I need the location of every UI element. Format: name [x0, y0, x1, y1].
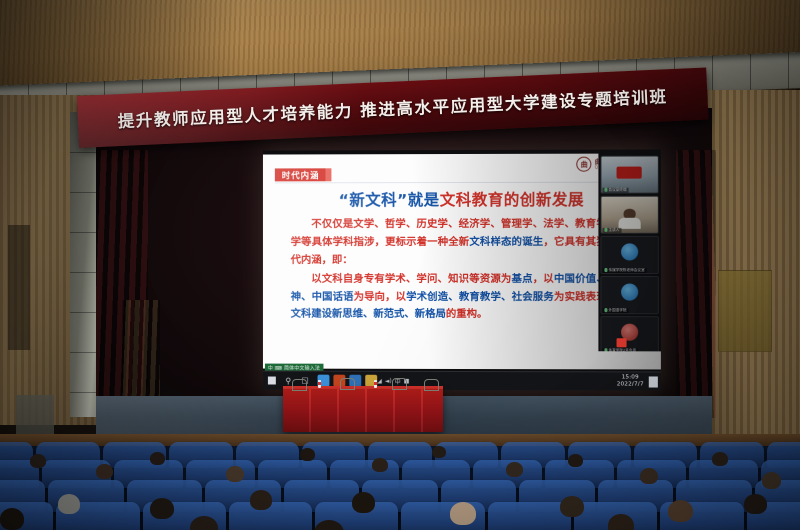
text-run: 学术创造、教育教学、社会服务: [406, 291, 554, 303]
clock-time: 15:09: [622, 374, 639, 381]
participant-name-label: 体育学院2号会场: [608, 348, 636, 352]
conference-participant-rail[interactable]: 会议室终端主讲人传媒学院陈老师会议室外国语学院体育学院2号会场文学分会场: [598, 153, 660, 351]
audience-member: [762, 472, 781, 489]
text-run: 。: [477, 308, 487, 320]
audience-member: [0, 508, 24, 530]
audience-member: [300, 448, 315, 461]
headline-part-3: 文科教育的创新发展: [440, 191, 584, 209]
audience-member: [668, 500, 693, 522]
text-run: 文科样态的诞生: [469, 236, 543, 248]
volume-icon[interactable]: ◄): [385, 377, 392, 384]
audience-area: [0, 446, 800, 530]
panel-seam: [712, 56, 713, 92]
participant-avatar: [621, 284, 638, 301]
clock-date: 2022/7/7: [617, 381, 644, 388]
text-run: 为导向，以: [354, 291, 407, 303]
audience-member: [372, 458, 388, 472]
headline-part-2: 就是: [408, 191, 440, 209]
text-run: 以文科自身专有学术、学问、知识等资源为: [311, 273, 511, 285]
slide-divider: [275, 182, 649, 184]
audience-member: [712, 452, 728, 466]
participant-name: 传媒学院陈老师会议室: [602, 268, 646, 273]
stage-curtain-right: [676, 150, 716, 418]
text-run: 重构: [456, 308, 477, 320]
audience-member: [250, 490, 272, 510]
participant-name: 主讲人: [602, 227, 621, 232]
panel-seam: [750, 54, 751, 90]
slide-section-tag: 时代内涵: [275, 168, 327, 181]
audience-member: [226, 466, 244, 482]
text-run: 基点: [512, 273, 533, 285]
audience-member: [744, 494, 767, 514]
audience-member: [640, 468, 658, 484]
slide-paragraph-p1: 不仅仅是文学、哲学、历史学、经济学、管理学、法学、教育学、艺术学等具体学科指涉，…: [291, 216, 639, 270]
stage-chair-2: [340, 378, 355, 390]
participant-video: [601, 317, 657, 351]
panel-seam: [788, 53, 789, 89]
audience-member: [560, 496, 584, 517]
side-door: [718, 270, 772, 352]
windows-start-icon[interactable]: [263, 372, 280, 390]
participant-tile[interactable]: 主讲人: [600, 196, 658, 234]
audience-member: [352, 492, 375, 513]
participant-tile[interactable]: 外国语学院: [600, 276, 658, 314]
participant-name-label: 传媒学院陈老师会议室: [608, 268, 644, 273]
participant-name-label: 外国语学院: [608, 308, 626, 313]
wall-left-panel: [8, 225, 30, 350]
audience-member: [58, 494, 80, 514]
red-banner-in-video: [616, 167, 642, 179]
network-icon[interactable]: ◢: [377, 377, 382, 384]
microphone-icon: [604, 308, 607, 312]
water-bottle-2: [374, 380, 377, 388]
water-bottle-1: [318, 380, 321, 388]
projection-screen: 曲 曲阜师范大学 Qufu Normal University 时代内涵 “新文…: [263, 149, 661, 390]
audience-member: [608, 514, 634, 530]
audience-member: [506, 462, 523, 477]
microphone-icon: [604, 188, 607, 192]
text-run: 文科建设新思维、新范式、新格局: [291, 308, 446, 320]
taskbar-clock[interactable]: 15:09 2022/7/7: [617, 374, 649, 388]
audience-member: [450, 502, 476, 525]
event-banner-text: 提升教师应用型人才培养能力 推进高水平应用型大学建设专题培训班: [117, 83, 668, 132]
participant-tile[interactable]: 体育学院2号会场: [600, 316, 658, 351]
participant-name: 体育学院2号会场: [602, 348, 638, 352]
participant-name-label: 会议室终端: [608, 187, 626, 192]
participant-name: 外国语学院: [602, 308, 628, 313]
stage-chair-3: [392, 378, 407, 390]
audience-member: [150, 498, 174, 519]
presentation-slide: 曲 曲阜师范大学 Qufu Normal University 时代内涵 “新文…: [263, 153, 661, 369]
participant-name-label: 主讲人: [608, 227, 619, 232]
participant-name: 会议室终端: [602, 187, 628, 192]
microphone-icon: [604, 349, 607, 352]
speaker-body: [619, 218, 640, 229]
auditorium-seat: [488, 502, 571, 530]
audience-member: [150, 452, 165, 465]
notification-icon[interactable]: [649, 376, 658, 387]
audience-member: [432, 446, 446, 458]
auditorium-seat: [229, 502, 312, 530]
stage-chair-1: [292, 379, 307, 391]
participant-avatar: [621, 244, 638, 261]
microphone-icon: [604, 228, 607, 232]
headline-part-1: “新文科”: [339, 191, 408, 209]
audience-member: [96, 464, 113, 479]
slide-paragraph-p2: 以文科自身专有学术、学问、知识等资源为基点，以中国价值、中国精神、中国话语为导向…: [291, 271, 639, 325]
microphone-icon: [604, 268, 607, 272]
slide-body: 不仅仅是文学、哲学、历史学、经济学、管理学、法学、教育学、艺术学等具体学科指涉，…: [291, 216, 639, 326]
recording-indicator-icon: [617, 338, 627, 347]
stage-chair-4: [424, 379, 439, 391]
head-table: [283, 389, 443, 432]
university-logo-mark: 曲: [577, 157, 592, 172]
text-run: 的: [446, 308, 456, 320]
participant-tile[interactable]: 传媒学院陈老师会议室: [600, 236, 658, 274]
audience-member: [30, 454, 46, 468]
auditorium-scene: 提升教师应用型人才培养能力 推进高水平应用型大学建设专题培训班 曲 曲阜师范大学…: [0, 0, 800, 530]
audience-member: [568, 454, 583, 467]
slide-section-tag-accent: [325, 168, 331, 181]
text-run: ，以: [533, 273, 554, 285]
participant-tile[interactable]: 会议室终端: [600, 155, 658, 193]
